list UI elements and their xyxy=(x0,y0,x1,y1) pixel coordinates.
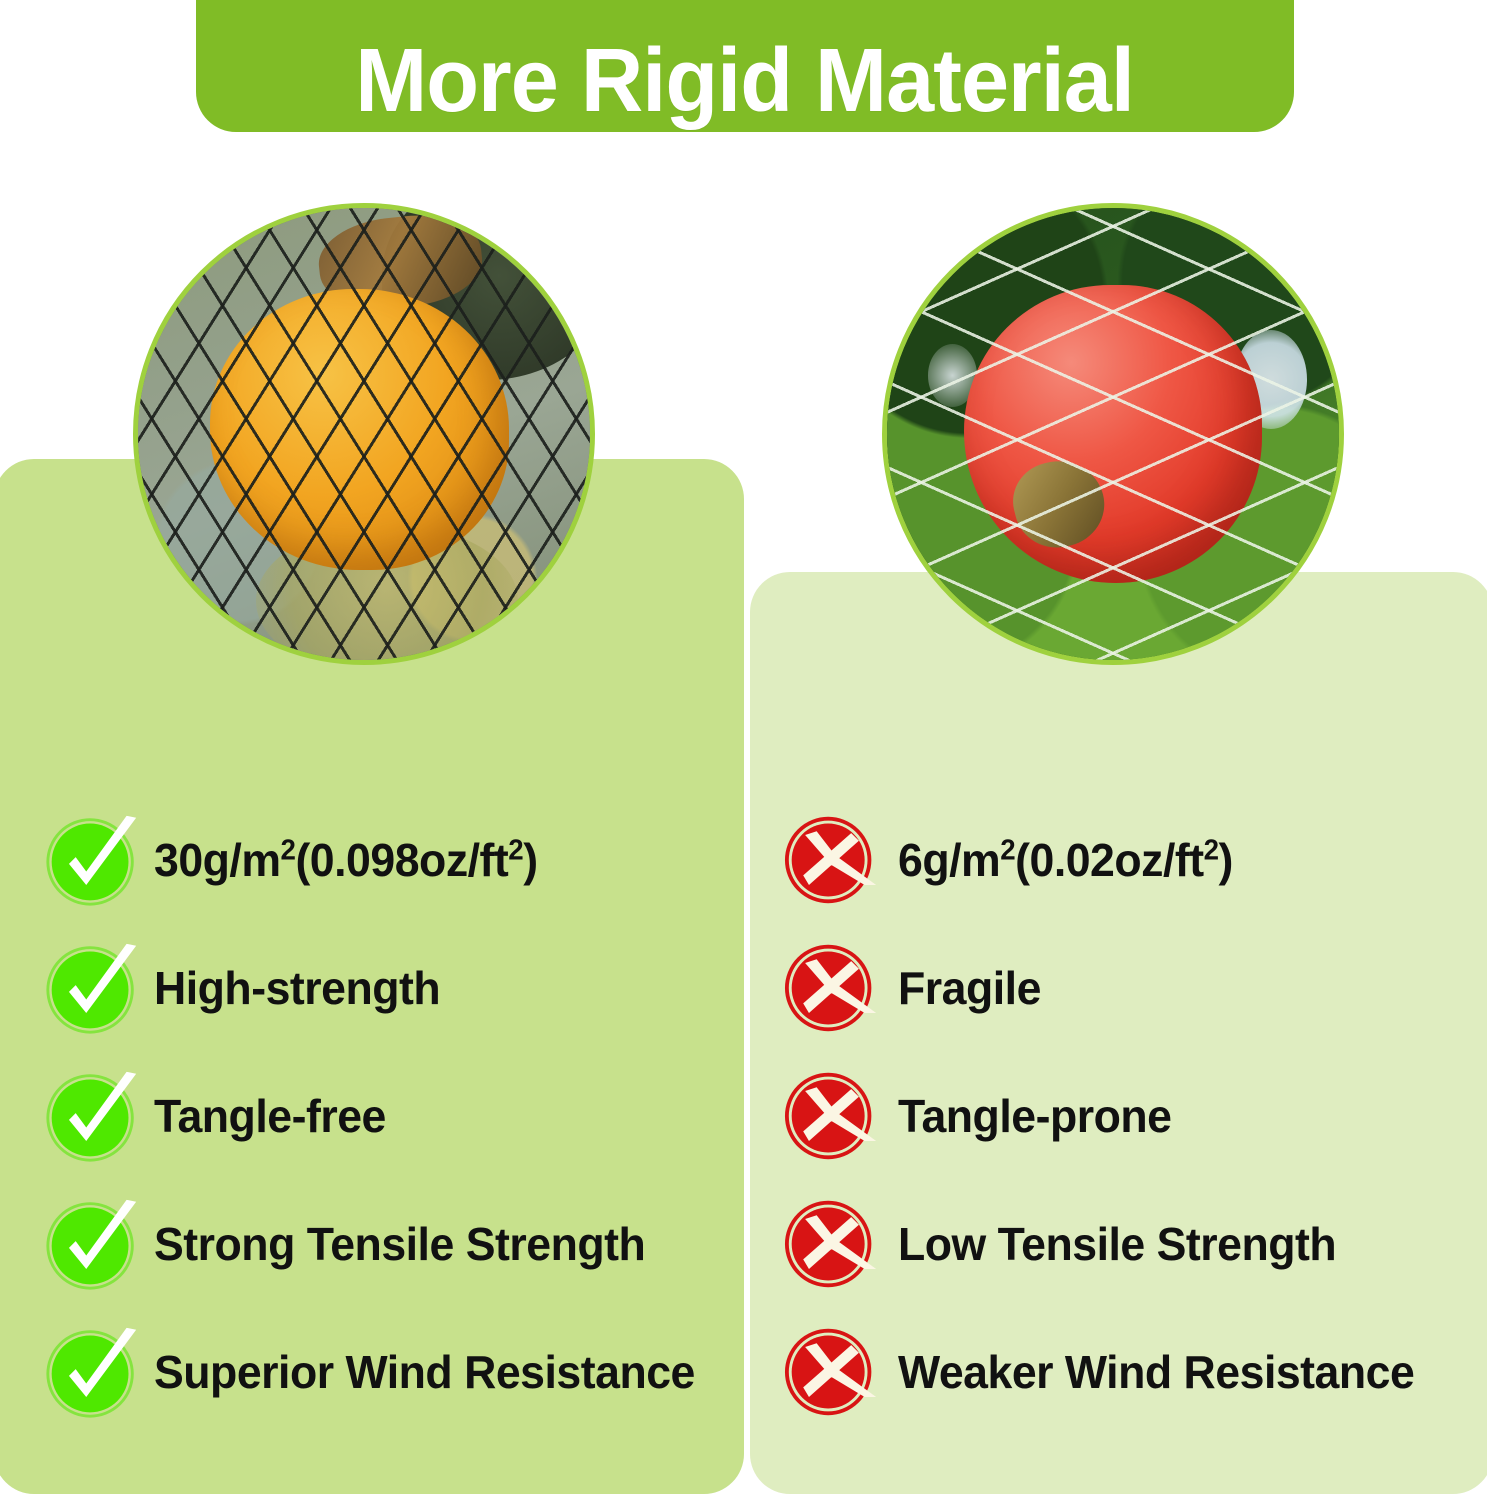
feature-value-weight-imperial: (0.098oz/ft xyxy=(295,834,508,886)
page-title: More Rigid Material xyxy=(356,36,1135,126)
feature-label: Low Tensile Strength xyxy=(898,1217,1336,1271)
feature-row: 30g/m2(0.098oz/ft2) xyxy=(44,796,734,924)
pomegranate-under-thin-net-photo xyxy=(882,203,1344,665)
superscript: 2 xyxy=(1204,835,1219,867)
feature-value-close-paren: ) xyxy=(523,834,537,886)
red-x-icon xyxy=(784,1068,880,1164)
feature-row: Fragile xyxy=(784,924,1474,1052)
feature-value-weight-imperial: (0.02oz/ft xyxy=(1015,834,1204,886)
feature-label: Weaker Wind Resistance xyxy=(898,1345,1414,1399)
feature-row: 6g/m2(0.02oz/ft2) xyxy=(784,796,1474,924)
photo-pro-net-overlay xyxy=(133,203,595,665)
persimmon-under-heavy-net-photo xyxy=(133,203,595,665)
red-x-icon xyxy=(784,1324,880,1420)
feature-label: Strong Tensile Strength xyxy=(154,1217,645,1271)
feature-row: Weaker Wind Resistance xyxy=(784,1308,1474,1436)
feature-label: Fragile xyxy=(898,961,1041,1015)
feature-list-pro: 30g/m2(0.098oz/ft2) High-strength Tangle… xyxy=(44,796,734,1436)
feature-row: Low Tensile Strength xyxy=(784,1180,1474,1308)
red-x-icon xyxy=(784,812,880,908)
feature-label: Tangle-prone xyxy=(898,1089,1171,1143)
photo-con-net-overlay xyxy=(882,203,1344,665)
feature-label: Superior Wind Resistance xyxy=(154,1345,695,1399)
feature-row: High-strength xyxy=(44,924,734,1052)
feature-value-weight: 6g/m xyxy=(898,834,1000,886)
feature-list-con: 6g/m2(0.02oz/ft2) Fragile Tangle-pr xyxy=(784,796,1474,1436)
green-check-icon xyxy=(44,1068,140,1164)
green-check-icon xyxy=(44,812,140,908)
feature-value-close-paren: ) xyxy=(1219,834,1233,886)
feature-label: Tangle-free xyxy=(154,1089,386,1143)
photo-con-content xyxy=(887,208,1339,660)
photo-pro-content xyxy=(138,208,590,660)
feature-row: Tangle-free xyxy=(44,1052,734,1180)
feature-label: 6g/m2(0.02oz/ft2) xyxy=(898,833,1233,887)
superscript: 2 xyxy=(1000,835,1015,867)
feature-row: Superior Wind Resistance xyxy=(44,1308,734,1436)
green-check-icon xyxy=(44,940,140,1036)
green-check-icon xyxy=(44,1196,140,1292)
feature-label: High-strength xyxy=(154,961,440,1015)
header-banner: More Rigid Material xyxy=(196,0,1294,132)
feature-value-weight: 30g/m xyxy=(154,834,281,886)
superscript: 2 xyxy=(508,835,523,867)
feature-label: 30g/m2(0.098oz/ft2) xyxy=(154,833,538,887)
feature-row: Tangle-prone xyxy=(784,1052,1474,1180)
green-check-icon xyxy=(44,1324,140,1420)
superscript: 2 xyxy=(281,835,296,867)
feature-row: Strong Tensile Strength xyxy=(44,1180,734,1308)
red-x-icon xyxy=(784,940,880,1036)
red-x-icon xyxy=(784,1196,880,1292)
